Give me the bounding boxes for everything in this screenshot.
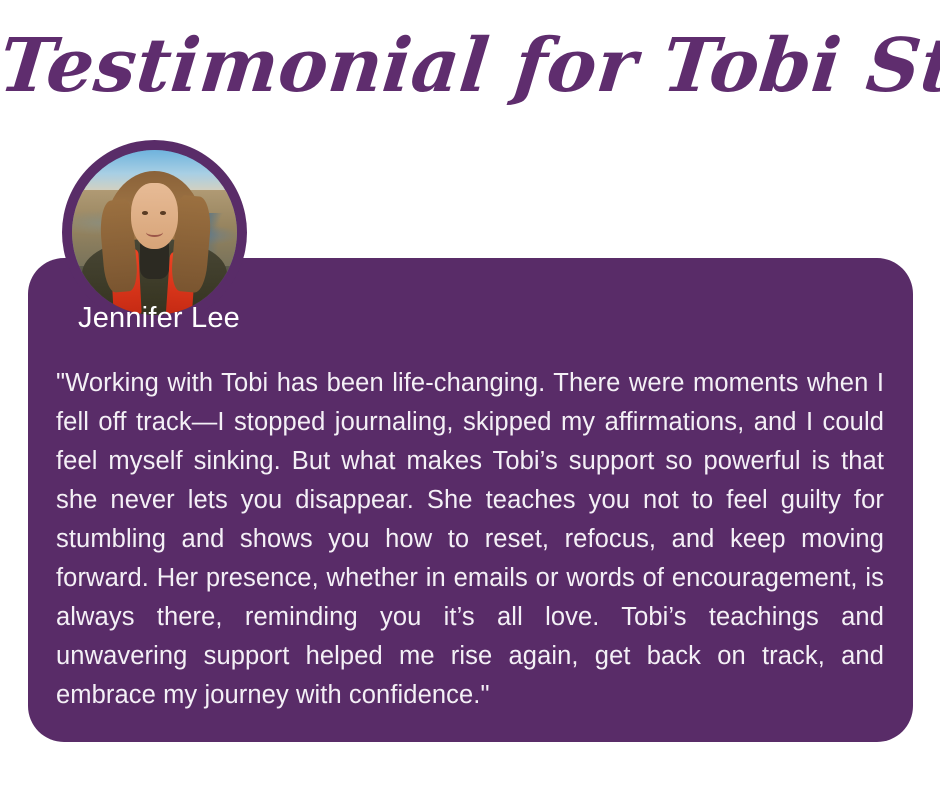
author-name: Jennifer Lee	[78, 302, 240, 335]
avatar	[62, 140, 247, 325]
photo-smile	[146, 228, 163, 237]
avatar-photo	[72, 150, 237, 315]
photo-eye-right	[160, 211, 166, 215]
quote-text: "Working with Tobi has been life-changin…	[56, 369, 884, 709]
testimonial-page: Testimonial for Tobi Staples Jennifer Le…	[0, 0, 940, 788]
page-title: Testimonial for Tobi Staples	[0, 18, 940, 114]
testimonial-quote: "Working with Tobi has been life-changin…	[56, 364, 884, 715]
photo-face	[131, 183, 177, 249]
photo-eye-left	[142, 211, 148, 215]
